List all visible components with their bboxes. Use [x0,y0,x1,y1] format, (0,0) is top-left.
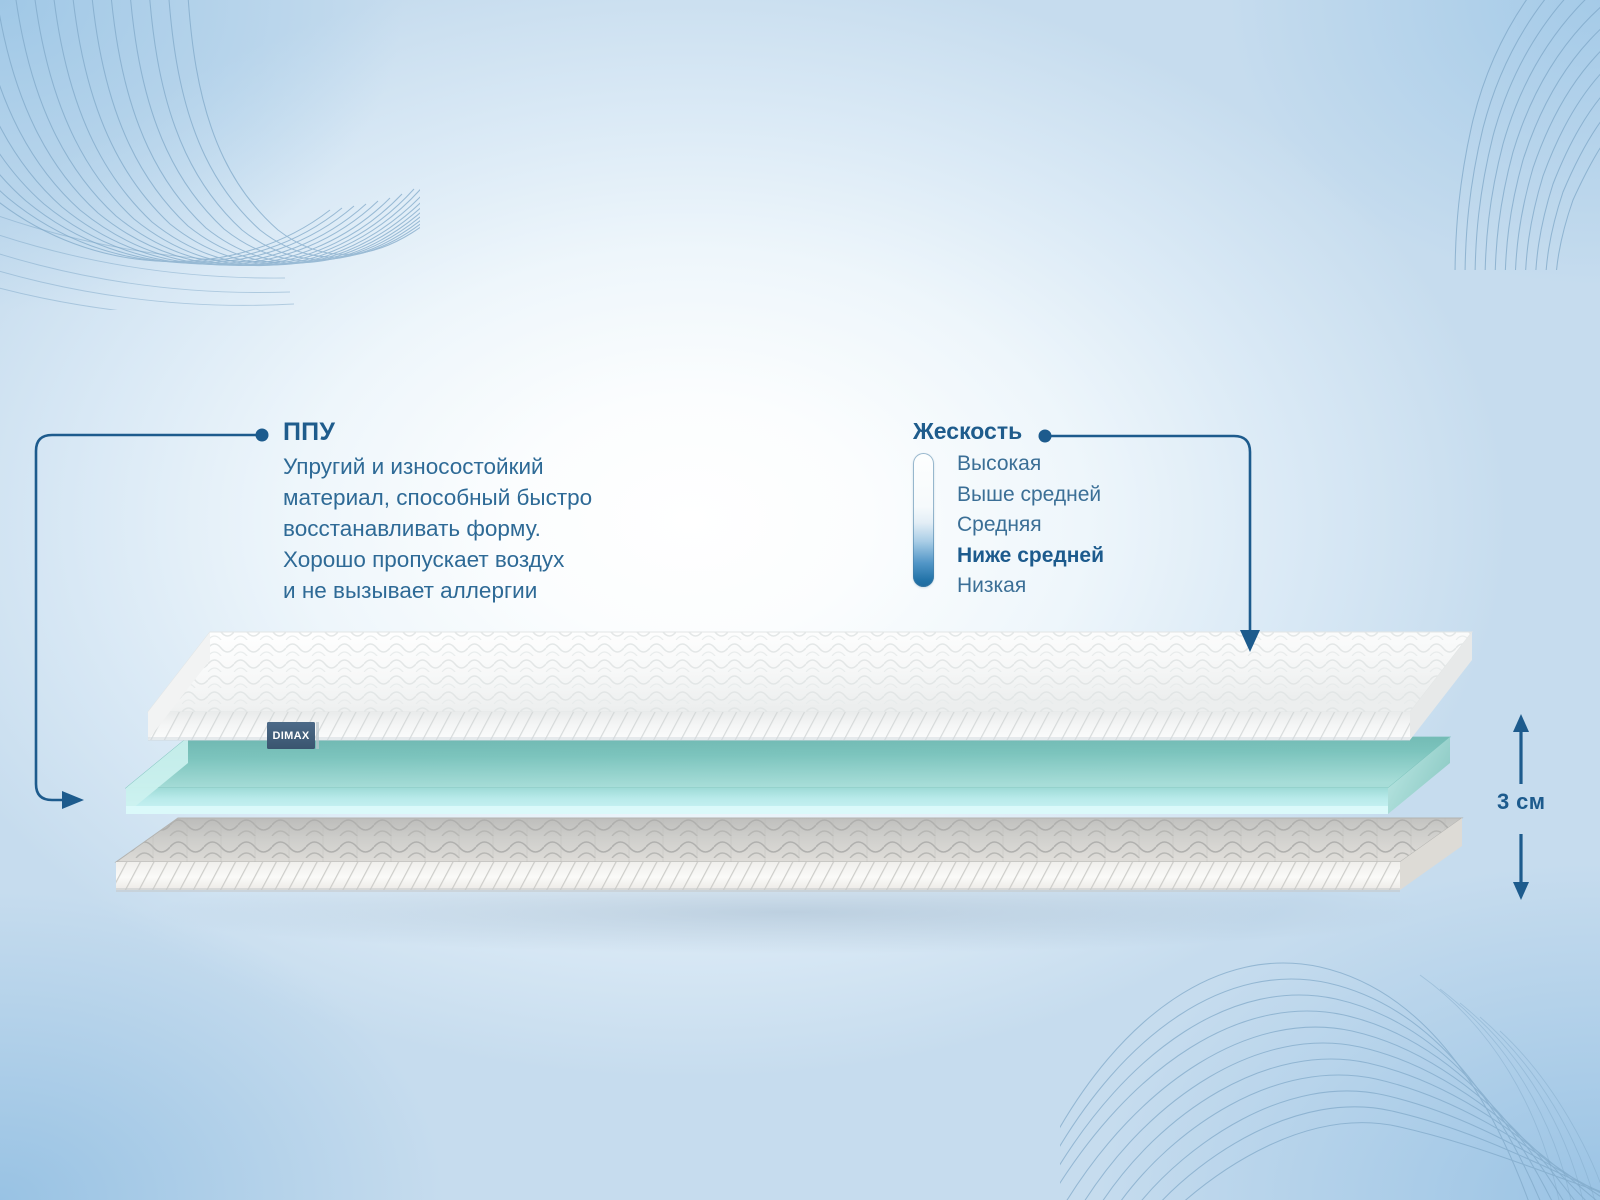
hardness-gauge-wrap: Высокая Выше средней Средняя Ниже средне… [913,449,1243,602]
ppu-description: Упругий и износостойкий материал, способ… [283,452,683,606]
ppu-description-line: и не вызывает аллергии [283,576,683,607]
hardness-level-item: Средняя [957,510,1243,541]
leader-line-ppu [36,435,258,800]
ppu-description-line: восстанавливать форму. [283,514,683,545]
infographic-canvas: DIMAX ППУ Упругий и износостойкий матери… [0,0,1600,1200]
callout-leader-lines [0,0,1600,1200]
hardness-level-item: Выше средней [957,480,1243,511]
ppu-title: ППУ [283,419,683,445]
hardness-level-item: Высокая [957,449,1243,480]
leader-arrow-ppu [62,791,84,809]
callout-hardness: Жескость Высокая Выше средней Средняя Ни… [913,419,1243,602]
hardness-title: Жескость [913,419,1243,443]
hardness-level-item-selected: Ниже средней [957,541,1243,572]
hardness-level-list: Высокая Выше средней Средняя Ниже средне… [957,449,1243,602]
leader-arrow-hardness [1240,630,1260,652]
hardness-gauge-bar [913,453,934,587]
callout-ppu: ППУ Упругий и износостойкий материал, сп… [283,419,683,606]
thickness-label: 3 см [1497,789,1545,815]
ppu-description-line: материал, способный быстро [283,483,683,514]
ppu-description-line: Упругий и износостойкий [283,452,683,483]
ppu-dot-marker [256,429,269,442]
hardness-level-item: Низкая [957,571,1243,602]
ppu-description-line: Хорошо пропускает воздух [283,545,683,576]
